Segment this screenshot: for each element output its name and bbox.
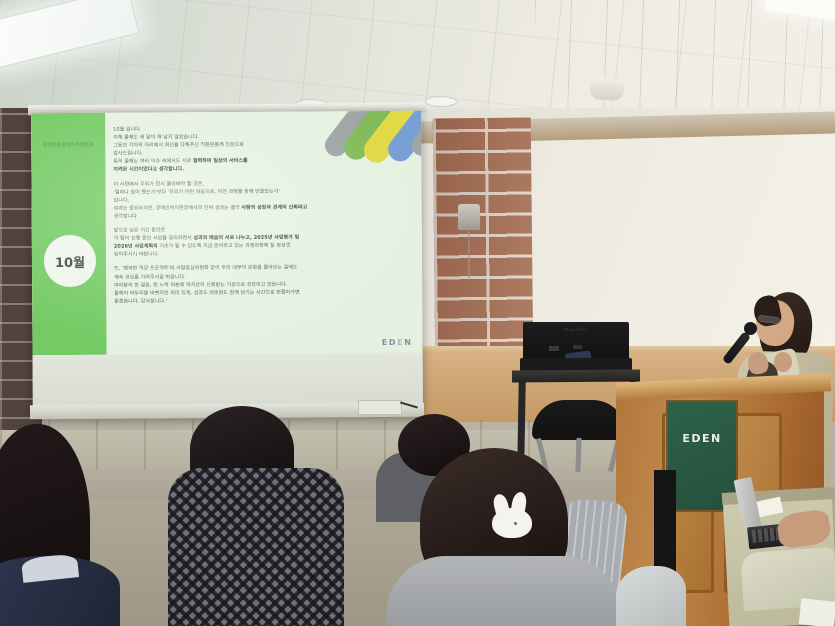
cat-body (492, 508, 532, 538)
slide-paragraph-intro: 10월 입니다.이제 올해도 세 달이 채 남지 않았습니다.그동안 각자의 자… (113, 124, 413, 174)
slide-eden-logo: EDEN (382, 338, 413, 347)
cat-hair-clip-icon (488, 492, 534, 540)
paper-sheet-2 (799, 598, 835, 626)
slide-paragraph-reflection: 이 시점에서 우리가 잠시 돌아봐야 할 것은,'얼마나 많이 했는가'보다 '… (113, 178, 413, 220)
monitor-button-2 (573, 345, 582, 349)
slide-org-tag: 장애인종합복지관협의회 (39, 143, 97, 149)
ceiling-speaker (589, 77, 624, 101)
cat-eye (514, 522, 517, 525)
audience-center-body (168, 468, 344, 626)
wall-sconce-light (458, 204, 480, 230)
projection-screen: 장애인종합복지관협의회 10월 10월 입니다.이제 올해도 세 달이 채 남지… (31, 111, 423, 418)
slide-month-badge: 10월 (44, 235, 96, 287)
speaker-hand-other (774, 352, 792, 372)
sconce-cord (468, 228, 470, 278)
slide-paragraph-closing: 또, '행복한 직장 프로젝트'와 사람중심위원회 같이 우리 내부의 문화를 … (114, 263, 414, 305)
av-desk (512, 369, 640, 382)
presentation-slide: 장애인종합복지관협의회 10월 10월 입니다.이제 올해도 세 달이 채 남지… (31, 111, 422, 355)
podium-sign-label: EDEN (668, 432, 736, 445)
photo-scene: 장애인종합복지관협의회 10월 10월 입니다.이제 올해도 세 달이 채 남지… (0, 0, 835, 626)
microphone-head (744, 322, 757, 335)
monitor-brand-label: monitor (523, 327, 629, 332)
downlight-4 (425, 96, 457, 107)
slide-paragraph-plan: 앞으로 남은 기간 동안은각 팀이 진행 중인 사업을 정리하면서 성과와 배움… (114, 225, 414, 259)
audience-right-body (616, 566, 686, 626)
ceiling-panel-strips (535, 0, 835, 122)
chair-leg-2 (575, 438, 581, 472)
black-office-chair (532, 400, 626, 440)
brick-column (433, 117, 534, 363)
monitor-button-1 (549, 346, 559, 351)
audience-main-body (386, 556, 622, 626)
eden-logo-text: EDEN (382, 338, 413, 347)
chair-base (540, 438, 618, 472)
screen-control-box (358, 400, 402, 415)
slide-body-text: 10월 입니다.이제 올해도 세 달이 채 남지 않았습니다.그동안 각자의 자… (113, 124, 414, 312)
slide-green-sidebar: 장애인종합복지관협의회 10월 (31, 113, 106, 355)
